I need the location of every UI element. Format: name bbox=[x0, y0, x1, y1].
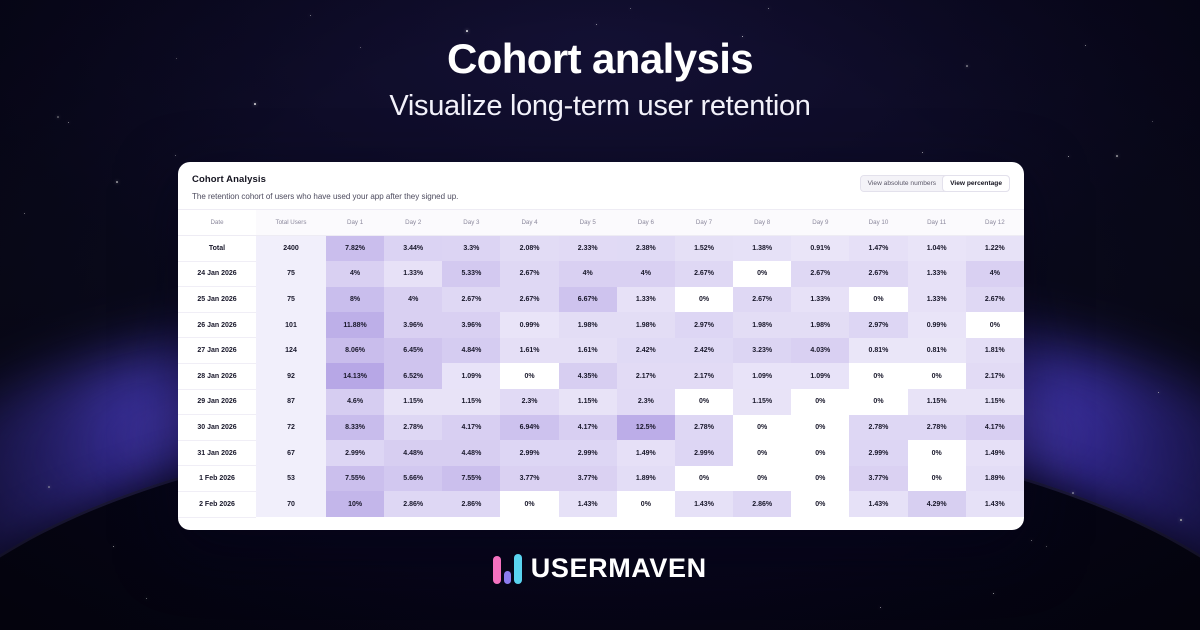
cohort-table: DateTotal UsersDay 1Day 2Day 3Day 4Day 5… bbox=[178, 209, 1024, 518]
page-subtitle: Visualize long-term user retention bbox=[0, 90, 1200, 123]
cell-retention-day-8: 1.98% bbox=[733, 312, 791, 338]
col-header-day-7: Day 6 bbox=[617, 210, 675, 236]
cell-retention-day-3: 4.84% bbox=[442, 338, 500, 364]
cell-retention-day-8: 0% bbox=[733, 261, 791, 287]
cell-retention-day-9: 1.98% bbox=[791, 312, 849, 338]
cell-retention-day-9: 0.91% bbox=[791, 236, 849, 262]
table-row[interactable]: 30 Jan 2026728.33%2.78%4.17%6.94%4.17%12… bbox=[178, 415, 1024, 441]
cell-retention-day-3: 3.96% bbox=[442, 312, 500, 338]
cell-retention-day-4: 0% bbox=[500, 363, 558, 389]
cell-retention-day-4: 2.67% bbox=[500, 261, 558, 287]
cell-retention-day-10: 2.78% bbox=[849, 415, 907, 441]
cell-retention-day-1: 4.6% bbox=[326, 389, 384, 415]
cell-retention-day-11: 1.04% bbox=[908, 236, 966, 262]
col-header-day-4: Day 3 bbox=[442, 210, 500, 236]
cell-retention-day-6: 1.89% bbox=[617, 466, 675, 492]
cell-retention-day-5: 4.35% bbox=[559, 363, 617, 389]
cell-retention-day-12: 4.17% bbox=[966, 415, 1024, 441]
table-row[interactable]: 2 Feb 20267010%2.86%2.86%0%1.43%0%1.43%2… bbox=[178, 491, 1024, 517]
cell-retention-day-7: 0% bbox=[675, 287, 733, 313]
cell-retention-day-8: 0% bbox=[733, 466, 791, 492]
cell-retention-day-7: 1.52% bbox=[675, 236, 733, 262]
cell-retention-day-10: 1.47% bbox=[849, 236, 907, 262]
cell-retention-day-12: 1.43% bbox=[966, 491, 1024, 517]
cell-retention-day-2: 6.45% bbox=[384, 338, 442, 364]
cell-retention-day-7: 2.78% bbox=[675, 415, 733, 441]
cell-retention-day-8: 1.09% bbox=[733, 363, 791, 389]
col-header-total-users: Total Users bbox=[256, 210, 326, 236]
cell-retention-day-5: 1.98% bbox=[559, 312, 617, 338]
cell-retention-day-8: 3.23% bbox=[733, 338, 791, 364]
cell-retention-day-12: 4% bbox=[966, 261, 1024, 287]
cell-retention-day-1: 14.13% bbox=[326, 363, 384, 389]
cell-retention-day-2: 1.33% bbox=[384, 261, 442, 287]
cell-retention-day-2: 3.96% bbox=[384, 312, 442, 338]
cell-retention-day-3: 2.67% bbox=[442, 287, 500, 313]
logo-bar-pink-icon bbox=[493, 556, 501, 584]
cell-retention-day-2: 6.52% bbox=[384, 363, 442, 389]
cohort-table-wrap[interactable]: DateTotal UsersDay 1Day 2Day 3Day 4Day 5… bbox=[178, 209, 1024, 518]
cell-retention-day-11: 0% bbox=[908, 466, 966, 492]
table-row[interactable]: 1 Feb 2026537.55%5.66%7.55%3.77%3.77%1.8… bbox=[178, 466, 1024, 492]
table-row[interactable]: 26 Jan 202610111.88%3.96%3.96%0.99%1.98%… bbox=[178, 312, 1024, 338]
cell-retention-day-6: 2.42% bbox=[617, 338, 675, 364]
table-row[interactable]: 24 Jan 2026754%1.33%5.33%2.67%4%4%2.67%0… bbox=[178, 261, 1024, 287]
cell-retention-day-11: 0.81% bbox=[908, 338, 966, 364]
cell-retention-day-1: 2.99% bbox=[326, 440, 384, 466]
cell-total-users: 124 bbox=[256, 338, 326, 364]
cell-retention-day-11: 0% bbox=[908, 363, 966, 389]
cell-retention-day-10: 0% bbox=[849, 389, 907, 415]
col-header-day-3: Day 2 bbox=[384, 210, 442, 236]
cell-retention-day-9: 1.09% bbox=[791, 363, 849, 389]
cell-date: 28 Jan 2026 bbox=[178, 363, 256, 389]
cell-retention-day-3: 1.09% bbox=[442, 363, 500, 389]
table-row[interactable]: 31 Jan 2026672.99%4.48%4.48%2.99%2.99%1.… bbox=[178, 440, 1024, 466]
page-canvas: Cohort analysis Visualize long-term user… bbox=[0, 0, 1200, 630]
cell-retention-day-10: 2.97% bbox=[849, 312, 907, 338]
cell-retention-day-7: 1.43% bbox=[675, 491, 733, 517]
card-subtitle: The retention cohort of users who have u… bbox=[192, 192, 1010, 201]
cell-retention-day-4: 3.77% bbox=[500, 466, 558, 492]
cell-retention-day-4: 0.99% bbox=[500, 312, 558, 338]
logo-bars-icon bbox=[493, 554, 522, 584]
view-percentage-button[interactable]: View percentage bbox=[943, 176, 1009, 191]
hero-header: Cohort analysis Visualize long-term user… bbox=[0, 34, 1200, 123]
cell-retention-day-6: 12.5% bbox=[617, 415, 675, 441]
cell-retention-day-10: 2.99% bbox=[849, 440, 907, 466]
cell-retention-day-3: 2.86% bbox=[442, 491, 500, 517]
cell-date: 24 Jan 2026 bbox=[178, 261, 256, 287]
cell-retention-day-5: 1.61% bbox=[559, 338, 617, 364]
cell-retention-day-6: 1.33% bbox=[617, 287, 675, 313]
cell-retention-day-4: 2.99% bbox=[500, 440, 558, 466]
cell-date: 26 Jan 2026 bbox=[178, 312, 256, 338]
table-row[interactable]: 28 Jan 20269214.13%6.52%1.09%0%4.35%2.17… bbox=[178, 363, 1024, 389]
col-header-date: Date bbox=[178, 210, 256, 236]
col-header-day-6: Day 5 bbox=[559, 210, 617, 236]
cell-retention-day-7: 2.99% bbox=[675, 440, 733, 466]
cell-retention-day-8: 0% bbox=[733, 415, 791, 441]
logo-bar-cyan-icon bbox=[514, 554, 522, 584]
cell-retention-day-9: 0% bbox=[791, 415, 849, 441]
cell-retention-day-12: 1.89% bbox=[966, 466, 1024, 492]
cell-retention-day-7: 2.17% bbox=[675, 363, 733, 389]
cell-retention-day-5: 4.17% bbox=[559, 415, 617, 441]
cell-retention-day-4: 2.3% bbox=[500, 389, 558, 415]
table-row[interactable]: 27 Jan 20261248.06%6.45%4.84%1.61%1.61%2… bbox=[178, 338, 1024, 364]
cell-retention-day-5: 2.99% bbox=[559, 440, 617, 466]
cell-retention-day-10: 0% bbox=[849, 287, 907, 313]
cell-total-users: 75 bbox=[256, 287, 326, 313]
cell-retention-day-8: 2.67% bbox=[733, 287, 791, 313]
cohort-table-body: Total24007.82%3.44%3.3%2.08%2.33%2.38%1.… bbox=[178, 236, 1024, 518]
cell-retention-day-1: 8% bbox=[326, 287, 384, 313]
cell-retention-day-5: 3.77% bbox=[559, 466, 617, 492]
cell-date: 30 Jan 2026 bbox=[178, 415, 256, 441]
cell-retention-day-9: 0% bbox=[791, 466, 849, 492]
col-header-day-9: Day 8 bbox=[733, 210, 791, 236]
cell-retention-day-2: 3.44% bbox=[384, 236, 442, 262]
cell-retention-day-6: 0% bbox=[617, 491, 675, 517]
col-header-day-13: Day 12 bbox=[966, 210, 1024, 236]
cell-retention-day-9: 4.03% bbox=[791, 338, 849, 364]
cell-retention-day-4: 2.08% bbox=[500, 236, 558, 262]
cell-date: Total bbox=[178, 236, 256, 262]
cell-total-users: 72 bbox=[256, 415, 326, 441]
cell-retention-day-12: 1.49% bbox=[966, 440, 1024, 466]
col-header-day-5: Day 4 bbox=[500, 210, 558, 236]
cell-retention-day-2: 2.78% bbox=[384, 415, 442, 441]
cell-retention-day-11: 2.78% bbox=[908, 415, 966, 441]
view-mode-toggle-group[interactable]: View absolute numbers View percentage bbox=[860, 175, 1010, 192]
cell-retention-day-12: 2.67% bbox=[966, 287, 1024, 313]
cell-retention-day-5: 4% bbox=[559, 261, 617, 287]
cohort-card: Cohort Analysis The retention cohort of … bbox=[178, 162, 1024, 530]
col-header-day-12: Day 11 bbox=[908, 210, 966, 236]
cell-date: 27 Jan 2026 bbox=[178, 338, 256, 364]
cell-retention-day-7: 2.97% bbox=[675, 312, 733, 338]
cell-retention-day-3: 7.55% bbox=[442, 466, 500, 492]
cell-retention-day-6: 1.98% bbox=[617, 312, 675, 338]
cell-date: 29 Jan 2026 bbox=[178, 389, 256, 415]
cell-retention-day-11: 1.33% bbox=[908, 287, 966, 313]
cell-retention-day-2: 4.48% bbox=[384, 440, 442, 466]
cell-total-users: 70 bbox=[256, 491, 326, 517]
cell-retention-day-2: 2.86% bbox=[384, 491, 442, 517]
cell-retention-day-9: 0% bbox=[791, 440, 849, 466]
cell-retention-day-7: 0% bbox=[675, 389, 733, 415]
cell-retention-day-3: 4.17% bbox=[442, 415, 500, 441]
view-absolute-numbers-button[interactable]: View absolute numbers bbox=[861, 176, 943, 191]
cell-total-users: 67 bbox=[256, 440, 326, 466]
col-header-day-2: Day 1 bbox=[326, 210, 384, 236]
cell-retention-day-1: 7.55% bbox=[326, 466, 384, 492]
cell-retention-day-12: 2.17% bbox=[966, 363, 1024, 389]
cell-retention-day-5: 6.67% bbox=[559, 287, 617, 313]
cell-retention-day-4: 2.67% bbox=[500, 287, 558, 313]
cell-retention-day-3: 5.33% bbox=[442, 261, 500, 287]
cell-retention-day-1: 7.82% bbox=[326, 236, 384, 262]
cell-date: 1 Feb 2026 bbox=[178, 466, 256, 492]
cell-retention-day-1: 4% bbox=[326, 261, 384, 287]
cell-retention-day-11: 0.99% bbox=[908, 312, 966, 338]
cell-retention-day-5: 1.43% bbox=[559, 491, 617, 517]
cell-retention-day-7: 2.42% bbox=[675, 338, 733, 364]
cell-total-users: 2400 bbox=[256, 236, 326, 262]
cell-date: 25 Jan 2026 bbox=[178, 287, 256, 313]
cell-retention-day-2: 1.15% bbox=[384, 389, 442, 415]
cell-retention-day-11: 4.29% bbox=[908, 491, 966, 517]
cell-retention-day-9: 0% bbox=[791, 491, 849, 517]
cell-retention-day-3: 3.3% bbox=[442, 236, 500, 262]
cell-retention-day-5: 2.33% bbox=[559, 236, 617, 262]
brand-logo: USERMAVEN bbox=[0, 553, 1200, 584]
cell-retention-day-7: 2.67% bbox=[675, 261, 733, 287]
card-header: Cohort Analysis The retention cohort of … bbox=[178, 162, 1024, 209]
brand-name: USERMAVEN bbox=[531, 553, 707, 584]
cell-retention-day-8: 0% bbox=[733, 440, 791, 466]
cell-retention-day-3: 4.48% bbox=[442, 440, 500, 466]
cell-retention-day-12: 1.81% bbox=[966, 338, 1024, 364]
cell-retention-day-2: 4% bbox=[384, 287, 442, 313]
cell-retention-day-4: 6.94% bbox=[500, 415, 558, 441]
cohort-table-head: DateTotal UsersDay 1Day 2Day 3Day 4Day 5… bbox=[178, 210, 1024, 236]
cell-retention-day-12: 0% bbox=[966, 312, 1024, 338]
col-header-day-10: Day 9 bbox=[791, 210, 849, 236]
cell-total-users: 75 bbox=[256, 261, 326, 287]
cell-retention-day-10: 1.43% bbox=[849, 491, 907, 517]
cohort-header-row: DateTotal UsersDay 1Day 2Day 3Day 4Day 5… bbox=[178, 210, 1024, 236]
cell-retention-day-1: 10% bbox=[326, 491, 384, 517]
cell-retention-day-5: 1.15% bbox=[559, 389, 617, 415]
cell-retention-day-1: 8.06% bbox=[326, 338, 384, 364]
cell-retention-day-4: 0% bbox=[500, 491, 558, 517]
cell-retention-day-8: 1.38% bbox=[733, 236, 791, 262]
cell-retention-day-12: 1.15% bbox=[966, 389, 1024, 415]
cell-date: 31 Jan 2026 bbox=[178, 440, 256, 466]
cell-retention-day-10: 2.67% bbox=[849, 261, 907, 287]
table-row[interactable]: 25 Jan 2026758%4%2.67%2.67%6.67%1.33%0%2… bbox=[178, 287, 1024, 313]
cell-retention-day-6: 2.38% bbox=[617, 236, 675, 262]
cell-retention-day-12: 1.22% bbox=[966, 236, 1024, 262]
col-header-day-11: Day 10 bbox=[849, 210, 907, 236]
cell-retention-day-10: 0.81% bbox=[849, 338, 907, 364]
cell-retention-day-4: 1.61% bbox=[500, 338, 558, 364]
cell-retention-day-7: 0% bbox=[675, 466, 733, 492]
table-row[interactable]: Total24007.82%3.44%3.3%2.08%2.33%2.38%1.… bbox=[178, 236, 1024, 262]
logo-bar-purple-icon bbox=[504, 571, 511, 584]
cell-retention-day-10: 0% bbox=[849, 363, 907, 389]
cell-total-users: 53 bbox=[256, 466, 326, 492]
cell-retention-day-3: 1.15% bbox=[442, 389, 500, 415]
cell-retention-day-6: 4% bbox=[617, 261, 675, 287]
col-header-day-8: Day 7 bbox=[675, 210, 733, 236]
cell-retention-day-1: 8.33% bbox=[326, 415, 384, 441]
cell-date: 2 Feb 2026 bbox=[178, 491, 256, 517]
cell-retention-day-6: 1.49% bbox=[617, 440, 675, 466]
cell-total-users: 87 bbox=[256, 389, 326, 415]
cell-retention-day-2: 5.66% bbox=[384, 466, 442, 492]
cell-retention-day-8: 2.86% bbox=[733, 491, 791, 517]
cell-retention-day-11: 0% bbox=[908, 440, 966, 466]
cell-retention-day-8: 1.15% bbox=[733, 389, 791, 415]
cell-retention-day-10: 3.77% bbox=[849, 466, 907, 492]
cell-retention-day-11: 1.33% bbox=[908, 261, 966, 287]
page-title: Cohort analysis bbox=[0, 34, 1200, 84]
cell-total-users: 92 bbox=[256, 363, 326, 389]
cell-retention-day-11: 1.15% bbox=[908, 389, 966, 415]
cell-retention-day-9: 2.67% bbox=[791, 261, 849, 287]
table-row[interactable]: 29 Jan 2026874.6%1.15%1.15%2.3%1.15%2.3%… bbox=[178, 389, 1024, 415]
cell-retention-day-6: 2.3% bbox=[617, 389, 675, 415]
cell-retention-day-1: 11.88% bbox=[326, 312, 384, 338]
cell-retention-day-6: 2.17% bbox=[617, 363, 675, 389]
cell-retention-day-9: 1.33% bbox=[791, 287, 849, 313]
cell-retention-day-9: 0% bbox=[791, 389, 849, 415]
cell-total-users: 101 bbox=[256, 312, 326, 338]
